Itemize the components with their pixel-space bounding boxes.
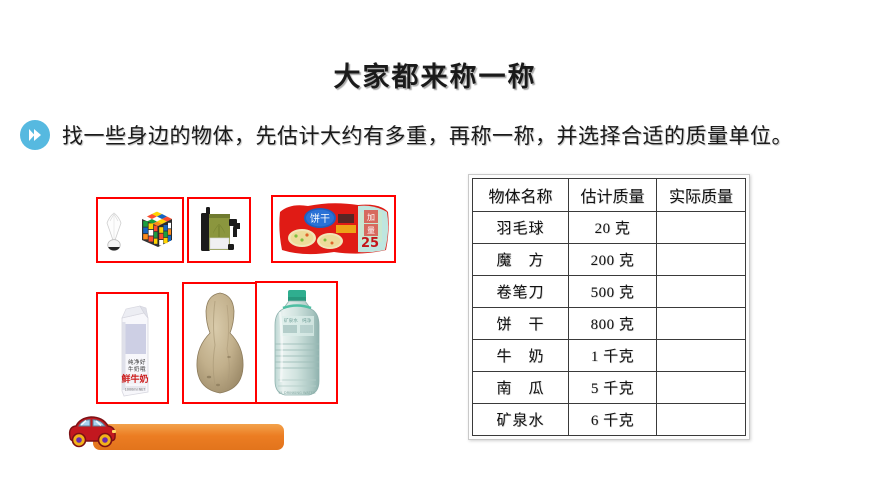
- photo-biscuit-package: 加 量 25 饼干: [271, 195, 396, 263]
- table-row: 牛 奶 1 千克: [473, 340, 746, 372]
- mass-estimate-table-wrapper: 物体名称 估计质量 实际质量 羽毛球 20 克 魔 方 200 克 卷笔刀: [468, 174, 750, 440]
- svg-text:加: 加: [367, 212, 375, 222]
- cell-actual-mass[interactable]: [657, 276, 746, 308]
- decorative-banner: [93, 424, 284, 450]
- column-header-object-name: 物体名称: [473, 179, 569, 212]
- cell-actual-mass[interactable]: [657, 308, 746, 340]
- photo-row-top: 加 量 25 饼干: [96, 195, 396, 263]
- svg-text:量: 量: [367, 226, 375, 235]
- photo-water-bottle: 矿泉水 纯净 6L DRINKING WATER: [255, 281, 338, 404]
- cell-estimated-mass: 20 克: [569, 212, 657, 244]
- svg-text:25: 25: [361, 236, 379, 251]
- cell-estimated-mass: 500 克: [569, 276, 657, 308]
- shuttlecock-graphic: [107, 213, 121, 250]
- cell-estimated-mass: 5 千克: [569, 372, 657, 404]
- cell-actual-mass[interactable]: [657, 340, 746, 372]
- table-row: 南 瓜 5 千克: [473, 372, 746, 404]
- table-row: 卷笔刀 500 克: [473, 276, 746, 308]
- svg-text:鲜牛奶: 鲜牛奶: [121, 373, 148, 385]
- photo-shuttlecock-and-rubiks-cube: [96, 197, 184, 263]
- rubiks-cube-graphic: [142, 212, 172, 247]
- cell-estimated-mass: 200 克: [569, 244, 657, 276]
- photo-pencil-sharpener: [187, 197, 251, 263]
- page-title: 大家都来称一称: [0, 55, 870, 94]
- cell-actual-mass[interactable]: [657, 404, 746, 436]
- cell-actual-mass[interactable]: [657, 244, 746, 276]
- svg-text:好: 好: [140, 358, 146, 366]
- cell-object-name: 南 瓜: [473, 372, 569, 404]
- cell-actual-mass[interactable]: [657, 212, 746, 244]
- mass-estimate-table: 物体名称 估计质量 实际质量 羽毛球 20 克 魔 方 200 克 卷笔刀: [472, 178, 746, 436]
- table-row: 矿泉水 6 千克: [473, 404, 746, 436]
- svg-text:哦: 哦: [140, 365, 146, 373]
- cell-object-name: 矿泉水: [473, 404, 569, 436]
- double-chevron-play-icon: [20, 120, 50, 150]
- svg-text:矿泉水: 矿泉水: [284, 317, 298, 324]
- photo-gallery: 加 量 25 饼干: [96, 195, 396, 404]
- instruction-row: 找一些身边的物体，先估计大约有多重，再称一称，并选择合适的质量单位。: [20, 120, 865, 150]
- cell-object-name: 羽毛球: [473, 212, 569, 244]
- cell-estimated-mass: 800 克: [569, 308, 657, 340]
- svg-text:纯净: 纯净: [302, 317, 312, 324]
- column-header-estimated-mass: 估计质量: [569, 179, 657, 212]
- photo-pumpkin: [182, 282, 257, 404]
- cell-actual-mass[interactable]: [657, 372, 746, 404]
- cell-estimated-mass: 1 千克: [569, 340, 657, 372]
- photo-row-bottom: 纯 净 好 牛 奶 哦 鲜牛奶 1000ml NET: [96, 281, 396, 404]
- cell-object-name: 卷笔刀: [473, 276, 569, 308]
- svg-text:6L DRINKING WATER: 6L DRINKING WATER: [278, 391, 315, 395]
- slide-canvas: 大家都来称一称 找一些身边的物体，先估计大约有多重，再称一称，并选择合适的质量单…: [0, 0, 870, 489]
- table-row: 饼 干 800 克: [473, 308, 746, 340]
- photo-milk-carton: 纯 净 好 牛 奶 哦 鲜牛奶 1000ml NET: [96, 292, 169, 404]
- red-car-icon: [62, 411, 120, 449]
- column-header-actual-mass: 实际质量: [657, 179, 746, 212]
- svg-text:饼干: 饼干: [310, 212, 330, 225]
- cell-object-name: 饼 干: [473, 308, 569, 340]
- cell-object-name: 牛 奶: [473, 340, 569, 372]
- table-row: 羽毛球 20 克: [473, 212, 746, 244]
- svg-text:1000ml NET: 1000ml NET: [124, 387, 146, 391]
- cell-object-name: 魔 方: [473, 244, 569, 276]
- cell-estimated-mass: 6 千克: [569, 404, 657, 436]
- instruction-text: 找一些身边的物体，先估计大约有多重，再称一称，并选择合适的质量单位。: [62, 120, 793, 150]
- table-row: 魔 方 200 克: [473, 244, 746, 276]
- table-header-row: 物体名称 估计质量 实际质量: [473, 179, 746, 212]
